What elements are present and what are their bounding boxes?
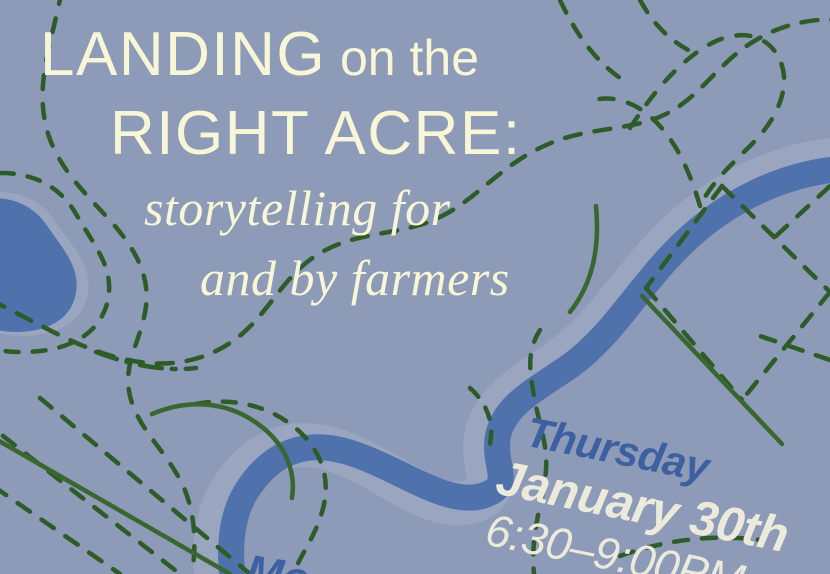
map-background: [0, 0, 830, 574]
event-poster: LANDING on the RIGHT ACRE: storytelling …: [0, 0, 830, 574]
